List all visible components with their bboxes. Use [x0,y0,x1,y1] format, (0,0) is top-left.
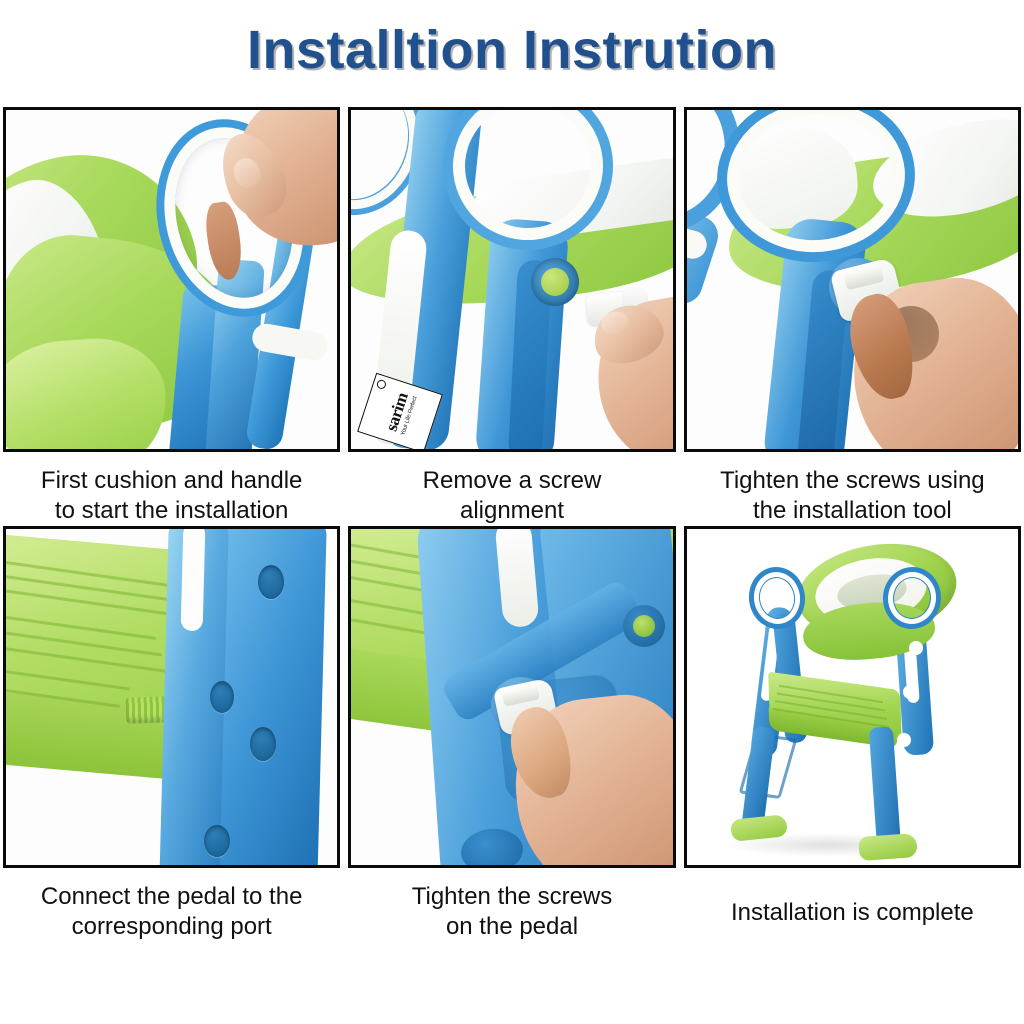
caption-line-2: corresponding port [3,912,340,942]
steps-row-1: First cushion and handle to start the in… [3,107,1021,526]
registered-mark-icon [376,379,387,390]
adjustment-dot [897,733,911,747]
step-caption-4: Connect the pedal to the corresponding p… [3,868,340,942]
step-card-6: Installation is complete [684,526,1021,942]
step-card-1: First cushion and handle to start the in… [3,107,340,526]
step-photo-6 [684,526,1021,868]
caption-line-2: on the pedal [348,912,675,942]
step-caption-2: Remove a screw alignment [348,452,675,526]
step-card-5: Tighten the screws on the pedal [348,526,675,942]
step-caption-5: Tighten the screws on the pedal [348,868,675,942]
adjustment-dot [909,641,923,655]
ladder-port-hole [258,565,284,599]
step-photo-3 [684,107,1021,452]
assembled-product [687,529,1021,865]
ladder-leg-slot-white [181,526,206,631]
caption-line-1: Tighten the screws using [684,466,1021,496]
caption-line-1: Tighten the screws [348,882,675,912]
step-caption-1: First cushion and handle to start the in… [3,452,340,526]
ladder-port-hole [204,825,230,857]
ladder-port-hole [210,681,234,713]
caption-line-1: First cushion and handle [3,466,340,496]
step-photo-5 [348,526,675,868]
steps-row-2: Connect the pedal to the corresponding p… [3,526,1021,942]
ladder-foot-right-green [858,833,918,861]
step-caption-6: Installation is complete [684,868,1021,928]
caption-line-1: Installation is complete [684,898,1021,928]
installation-instruction-page: Installtion Instrution [0,0,1024,1024]
caption-line-2: alignment [348,496,675,526]
step-photo-4 [3,526,340,868]
caption-line-2: the installation tool [684,496,1021,526]
step-caption-3: Tighten the screws using the installatio… [684,452,1021,526]
caption-line-1: Remove a screw [348,466,675,496]
steps-grid: First cushion and handle to start the in… [3,107,1021,942]
step-card-2: sarim Your Life Perfect Remove a screw a… [348,107,675,526]
caption-line-2: to start the installation [3,496,340,526]
adjustment-dot [903,685,917,699]
caption-line-1: Connect the pedal to the [3,882,340,912]
ladder-port-hole [250,727,276,761]
step-photo-1 [3,107,340,452]
step-card-3: Tighten the screws using the installatio… [684,107,1021,526]
page-header: Installtion Instrution [0,0,1024,100]
page-title: Installtion Instrution [247,19,777,81]
step-card-4: Connect the pedal to the corresponding p… [3,526,340,942]
step-photo-2: sarim Your Life Perfect [348,107,675,452]
